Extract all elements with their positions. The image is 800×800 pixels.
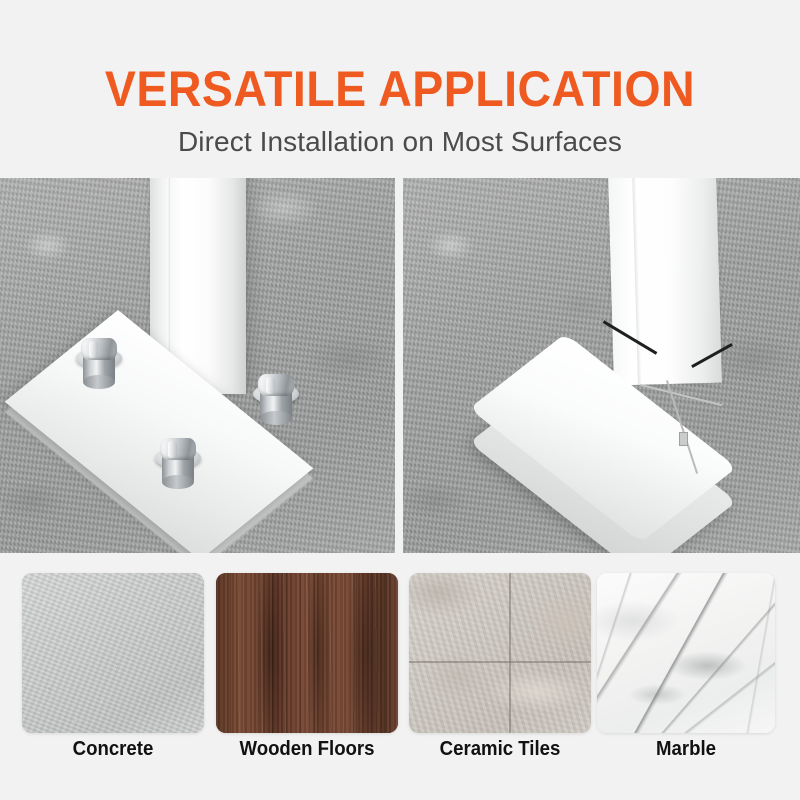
- page-subtitle: Direct Installation on Most Surfaces: [0, 126, 800, 158]
- swatch-label-wooden-floors: Wooden Floors: [222, 736, 391, 762]
- surface-label-row: Concrete Wooden Floors Ceramic Tiles Mar…: [0, 736, 800, 770]
- bolt-head: [160, 438, 196, 460]
- header: VERSATILE APPLICATION Direct Installatio…: [0, 0, 800, 178]
- grout-line-vertical: [509, 573, 511, 733]
- anchor-bolt: [155, 438, 201, 490]
- product-feature-banner: VERSATILE APPLICATION Direct Installatio…: [0, 0, 800, 800]
- ceramic-tile-texture: [409, 573, 591, 733]
- bolt-facet: [168, 441, 177, 458]
- swatch-label-concrete: Concrete: [28, 736, 197, 762]
- wood-texture: [216, 573, 398, 733]
- bolt-facet: [89, 341, 98, 358]
- swatch-wooden-floors: [216, 573, 398, 733]
- swatch-marble: [597, 573, 775, 733]
- bolt-head: [258, 374, 294, 396]
- anchor-bolt: [76, 338, 122, 390]
- concrete-texture: [22, 573, 204, 733]
- photo-gallery: [0, 178, 800, 553]
- cover-clip: [679, 432, 688, 446]
- swatch-ceramic-tiles: [409, 573, 591, 733]
- swatch-concrete: [22, 573, 204, 733]
- photo-post-base-exposed-bolts: [0, 178, 395, 553]
- swatch-label-marble: Marble: [603, 736, 769, 762]
- surface-swatch-row: [0, 573, 800, 733]
- page-title: VERSATILE APPLICATION: [28, 64, 772, 114]
- anchor-bolt: [253, 374, 299, 426]
- bolt-facet: [266, 377, 275, 394]
- post-corner-edge: [632, 178, 642, 385]
- photo-post-base-cover-installed: [403, 178, 800, 553]
- marble-texture: [597, 573, 775, 733]
- grout-line-horizontal: [409, 661, 591, 663]
- white-post: [608, 178, 722, 385]
- bolt-head: [81, 338, 117, 360]
- swatch-label-ceramic-tiles: Ceramic Tiles: [415, 736, 584, 762]
